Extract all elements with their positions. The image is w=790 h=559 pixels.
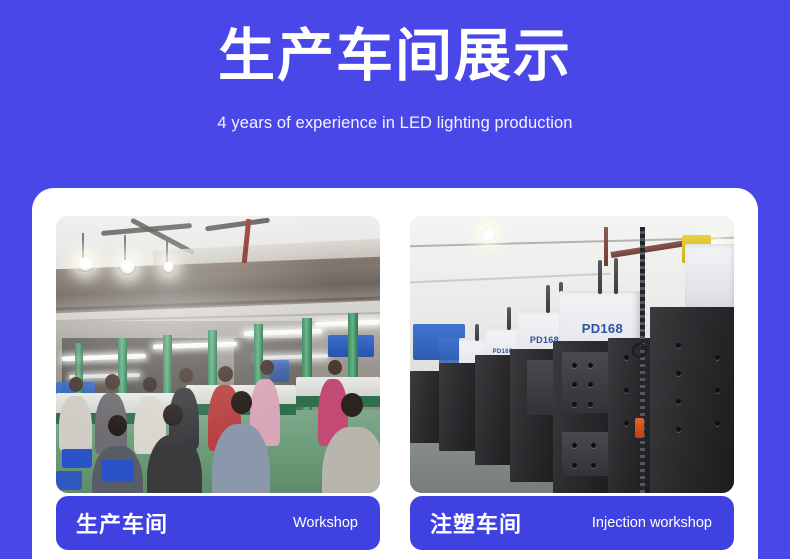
steel-mold-face [562,352,607,413]
photo-scene-assembly [56,216,380,493]
mold-bolt-hole [715,388,720,393]
machine-rod [598,260,602,293]
workshop-photo-production [56,216,380,493]
machine-rod [475,324,479,341]
card-caption-injection: 注塑车间 Injection workshop [410,496,734,550]
pendant-lamp-icon [77,255,94,272]
workshop-card-list: 生产车间 Workshop [56,216,734,559]
mold-bolt-hole [676,427,681,432]
card-caption-production: 生产车间 Workshop [56,496,380,550]
steel-mold-face [562,432,607,476]
overhead-beam [604,227,608,266]
caption-title-cn: 注塑车间 [430,507,522,539]
mold-bolt-hole [572,363,577,368]
mold-bolt-hole [572,463,577,468]
mold-bolt-hole [715,421,720,426]
worker-head [218,366,233,382]
mold-bolt-hole [624,421,629,426]
steel-mold-block [650,307,734,493]
caption-title-cn: 生产车间 [76,507,168,539]
page-subtitle: 4 years of experience in LED lighting pr… [0,112,790,134]
workshop-card-injection[interactable]: PD168 Servo PD168 Servo PD168 Servo Stab… [410,216,734,559]
mold-bolt-hole [572,402,577,407]
lamp-stem [124,235,126,260]
page-title: 生产车间展示 [0,23,790,89]
content-panel: 生产车间 Workshop [32,188,758,559]
machine-model-label: PD168 [582,321,623,336]
machine-rod [614,258,618,294]
pendant-lamp-icon [162,260,175,273]
mold-bolt-hole [715,355,720,360]
hoist-chain [640,227,645,493]
lamp-stem [82,233,84,258]
machine-rod [507,307,511,329]
hoist-hook-tag [635,418,644,438]
mold-bolt-hole [624,355,629,360]
caption-title-en: Injection workshop [592,515,712,531]
mold-bolt-hole [588,363,593,368]
worker-head [105,374,120,390]
mold-bolt-hole [676,399,681,404]
worker-head [231,391,252,414]
caption-title-en: Workshop [293,515,358,531]
worker-body [59,396,91,451]
workshop-card-production[interactable]: 生产车间 Workshop [56,216,380,559]
steel-mold-block [608,338,657,493]
workshop-photo-injection: PD168 Servo PD168 Servo PD168 Servo Stab… [410,216,734,493]
promo-banner-page: 生产车间展示 4 years of experience in LED ligh… [0,0,790,559]
mold-bolt-hole [676,371,681,376]
photo-scene-injection: PD168 Servo PD168 Servo PD168 Servo Stab… [410,216,734,493]
plastic-stool [62,449,91,468]
worker-head [69,377,83,392]
pendant-lamp-icon [119,258,136,275]
banner-header: 生产车间展示 4 years of experience in LED ligh… [0,0,790,188]
mold-bolt-hole [588,402,593,407]
machine-rod [546,285,550,313]
worker-body [212,424,270,493]
plastic-stool [56,471,82,490]
mold-bolt-hole [624,388,629,393]
plastic-stool [101,460,133,482]
